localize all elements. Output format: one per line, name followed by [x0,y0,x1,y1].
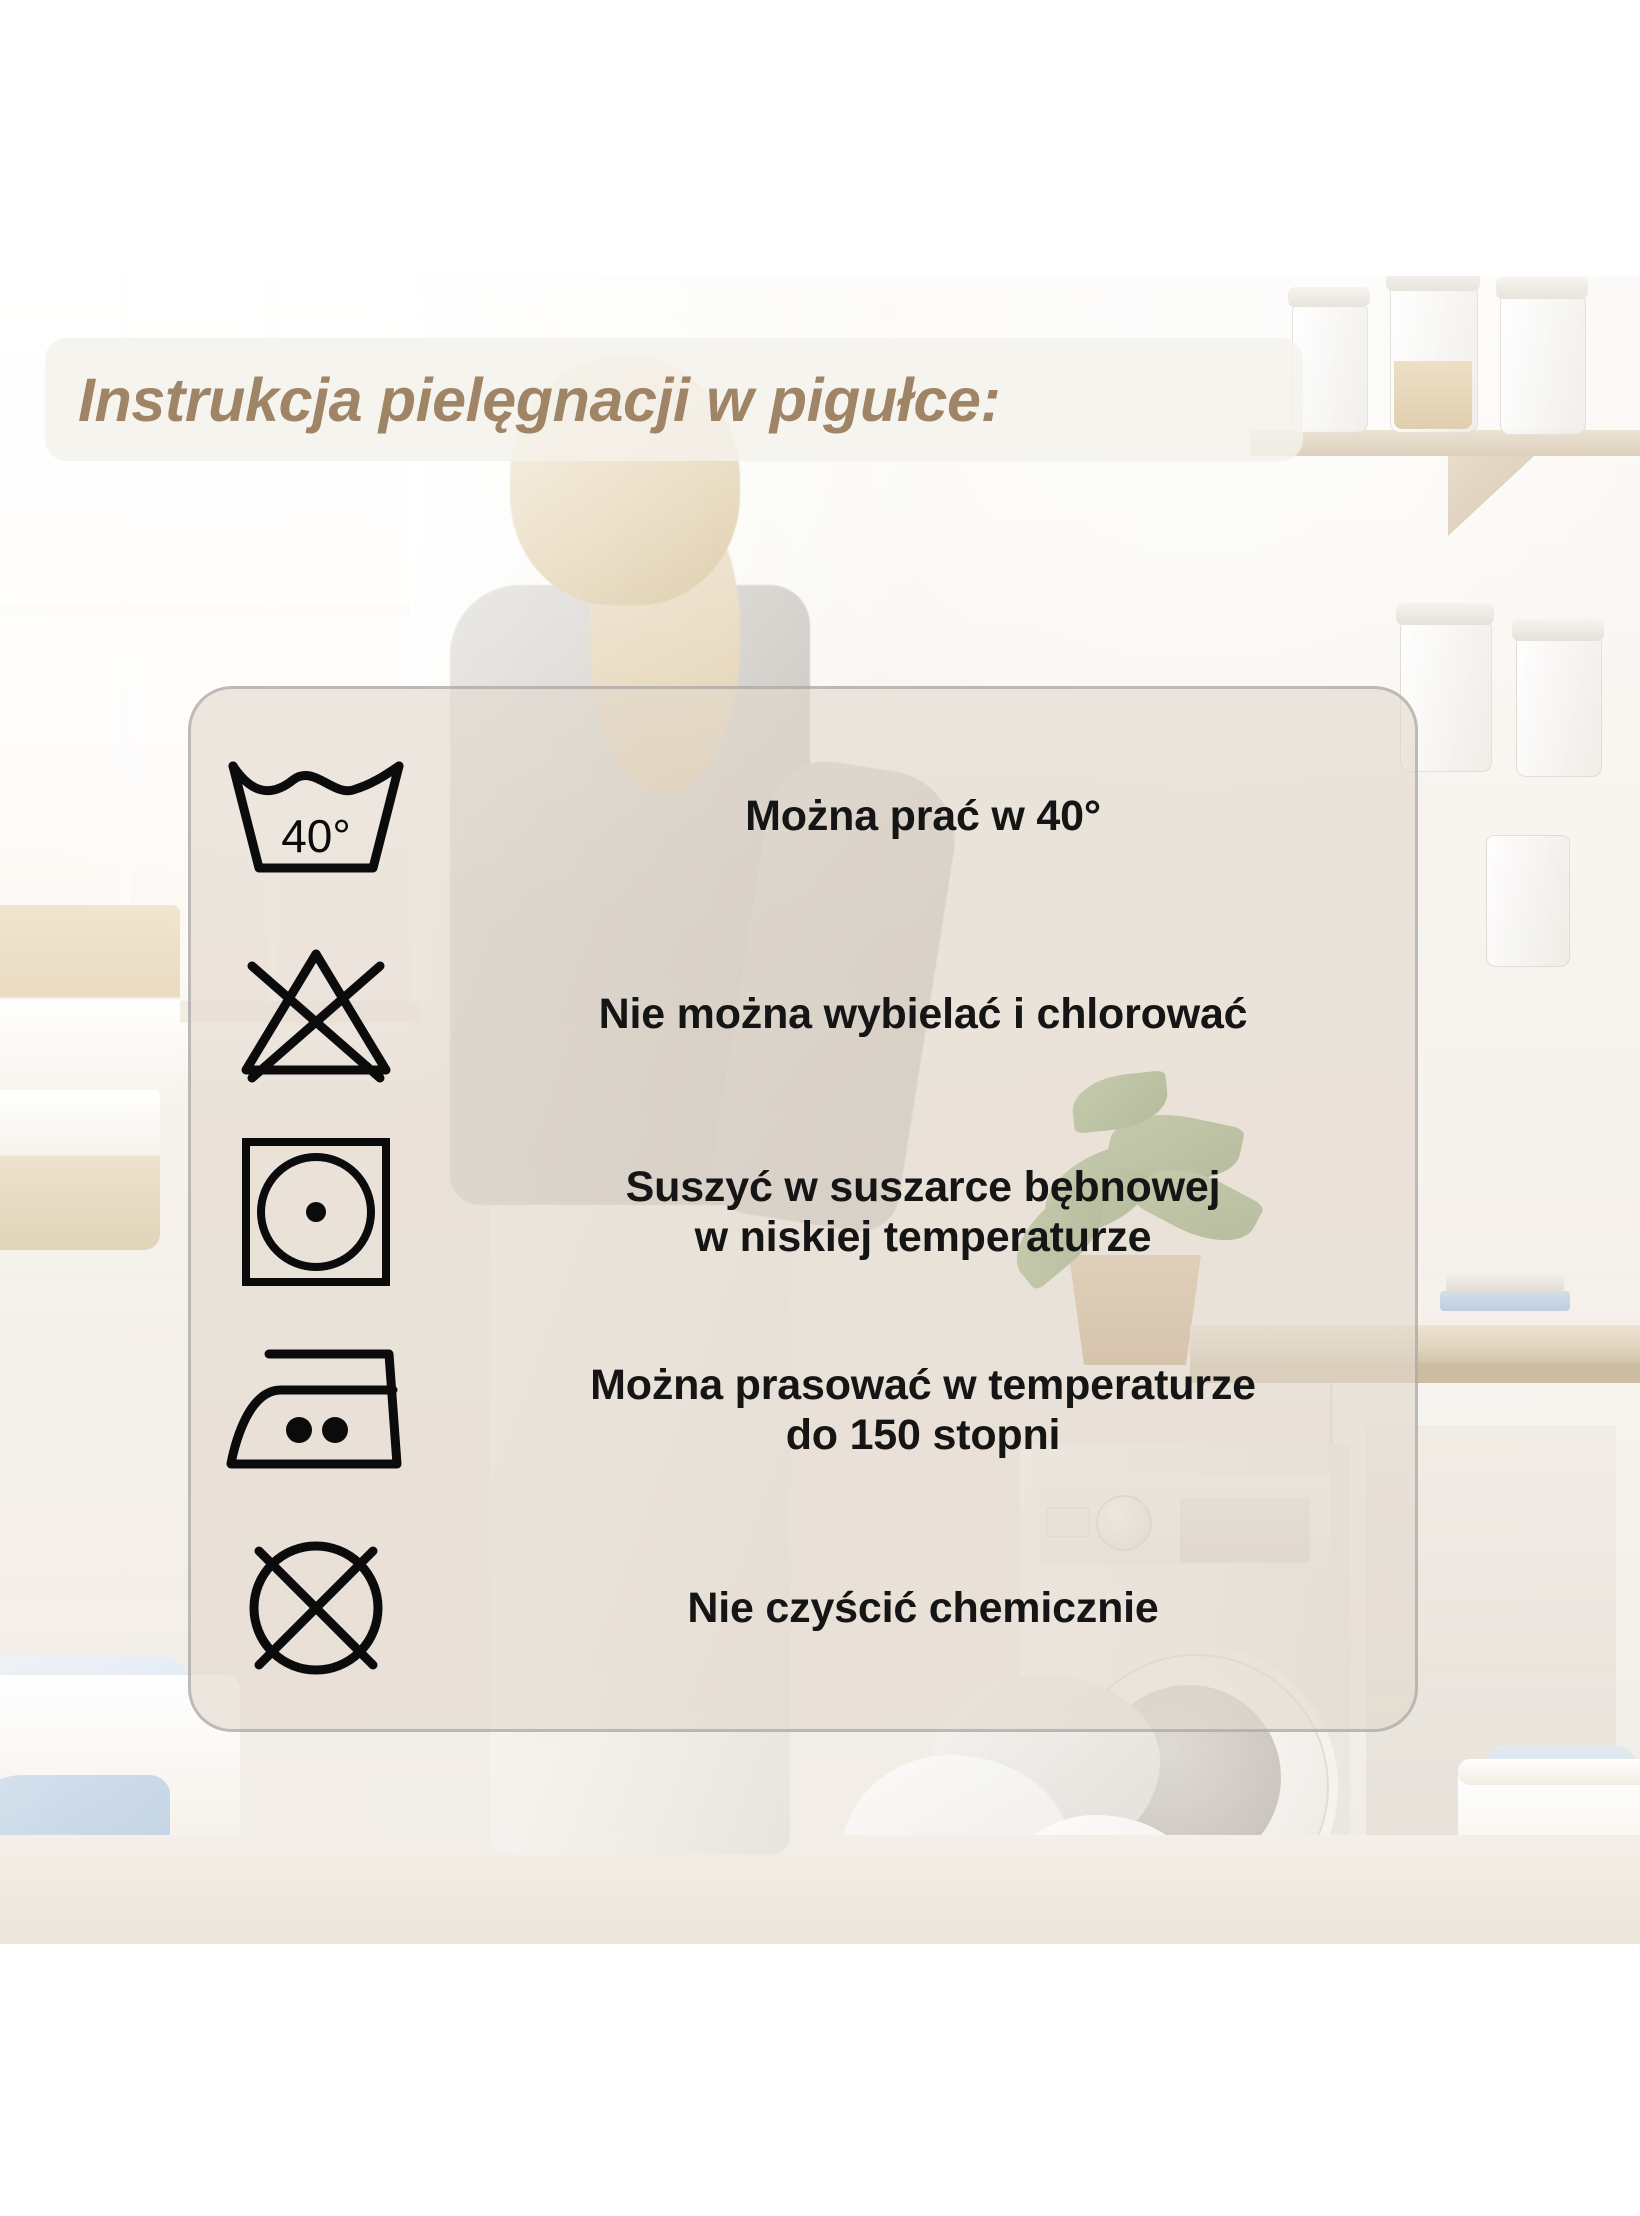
wash-tub-40-icon: 40° [191,752,441,880]
care-label-line: do 150 stopni [590,1410,1256,1460]
storage-jar [1516,635,1602,777]
top-white-band [0,0,1640,276]
do-not-dry-clean-icon [191,1533,441,1683]
care-label: Nie czyścić chemicznie [687,1583,1158,1633]
woven-basket [0,905,180,1095]
care-label-line: Można prasować w temperaturze [590,1360,1256,1410]
care-label: Nie można wybielać i chlorować [599,989,1248,1039]
care-label-cell: Nie czyścić chemicznie [441,1583,1415,1633]
care-row: Nie można wybielać i chlorować [191,915,1415,1113]
care-label-line: w niskiej temperaturze [626,1212,1221,1262]
do-not-bleach-triangle-icon [191,944,441,1084]
care-label-cell: Można prać w 40° [441,791,1415,841]
care-label-cell: Suszyć w suszarce bębnowej w niskiej tem… [441,1162,1415,1263]
care-label: Suszyć w suszarce bębnowej w niskiej tem… [626,1162,1221,1263]
iron-two-dots-icon [191,1342,441,1478]
care-row: Można prasować w temperaturze do 150 sto… [191,1311,1415,1509]
care-label-cell: Nie można wybielać i chlorować [441,989,1415,1039]
storage-jar [1500,293,1586,435]
wash-temp-value: 40° [281,810,351,862]
care-row: Suszyć w suszarce bębnowej w niskiej tem… [191,1113,1415,1311]
jar-lid [1288,287,1370,307]
care-rows: 40° Można prać w 40° Nie można w [191,689,1415,1729]
care-label-line: Suszyć w suszarce bębnowej [626,1162,1221,1212]
bottom-white-band [0,1944,1640,2216]
jar-lid [1512,619,1604,641]
jar-lid [1496,277,1588,299]
window-mullion [0,605,410,617]
bottle [1486,835,1570,967]
tumble-dry-low-icon [191,1134,441,1290]
care-row: Nie czyścić chemicznie [191,1509,1415,1707]
care-row: 40° Można prać w 40° [191,717,1415,915]
care-instructions-infographic: Instrukcja pielęgnacji w pigułce: 40° Mo… [0,0,1640,2216]
folded-towel [1440,1291,1570,1311]
care-label-cell: Można prasować w temperaturze do 150 sto… [441,1360,1415,1461]
care-label: Można prać w 40° [745,791,1101,841]
wall-shelf [1250,430,1640,456]
folded-towel [1446,1273,1564,1293]
woven-basket [0,1090,160,1250]
care-instructions-panel: 40° Można prać w 40° Nie można w [188,686,1418,1732]
jar-lid [1396,603,1494,625]
storage-jar [1292,303,1368,433]
care-label: Można prasować w temperaturze do 150 sto… [590,1360,1256,1461]
jar-lid [1386,275,1480,291]
basket-rim [1458,1759,1640,1785]
page-title: Instrukcja pielęgnacji w pigułce: [78,365,1000,435]
jar-contents [1394,361,1472,429]
title-pill: Instrukcja pielęgnacji w pigułce: [45,338,1303,461]
